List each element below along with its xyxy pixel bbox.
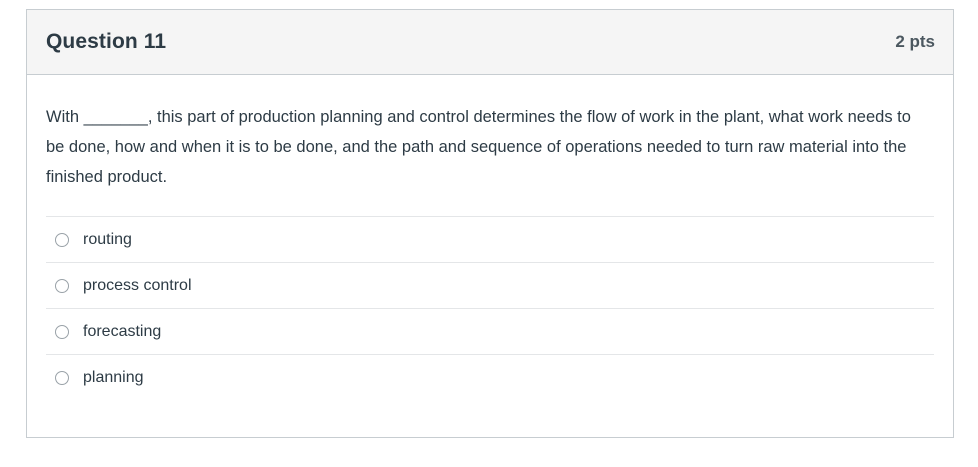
answer-option-label: routing <box>83 230 132 250</box>
answer-options-list: routing process control forecasting plan… <box>46 216 934 401</box>
question-card: Question 11 2 pts With _______, this par… <box>26 9 954 438</box>
question-header: Question 11 2 pts <box>27 10 953 75</box>
answer-option-label: process control <box>83 276 192 296</box>
chevron-right-icon[interactable]: ⟩ <box>0 27 11 53</box>
answer-option-row[interactable]: routing <box>46 217 934 263</box>
radio-button-icon[interactable] <box>55 371 69 385</box>
answer-option-label: forecasting <box>83 322 161 342</box>
radio-button-icon[interactable] <box>55 233 69 247</box>
quiz-question-page: ⟩ Question 11 2 pts With _______, this p… <box>0 0 978 467</box>
answer-option-row[interactable]: planning <box>46 355 934 401</box>
answer-option-row[interactable]: forecasting <box>46 309 934 355</box>
answer-option-label: planning <box>83 368 144 388</box>
question-points-badge: 2 pts <box>895 32 935 52</box>
radio-button-icon[interactable] <box>55 325 69 339</box>
answer-option-row[interactable]: process control <box>46 263 934 309</box>
question-text: With _______, this part of production pl… <box>46 102 931 192</box>
question-body: With _______, this part of production pl… <box>27 75 953 401</box>
radio-button-icon[interactable] <box>55 279 69 293</box>
question-title: Question 11 <box>46 30 166 54</box>
